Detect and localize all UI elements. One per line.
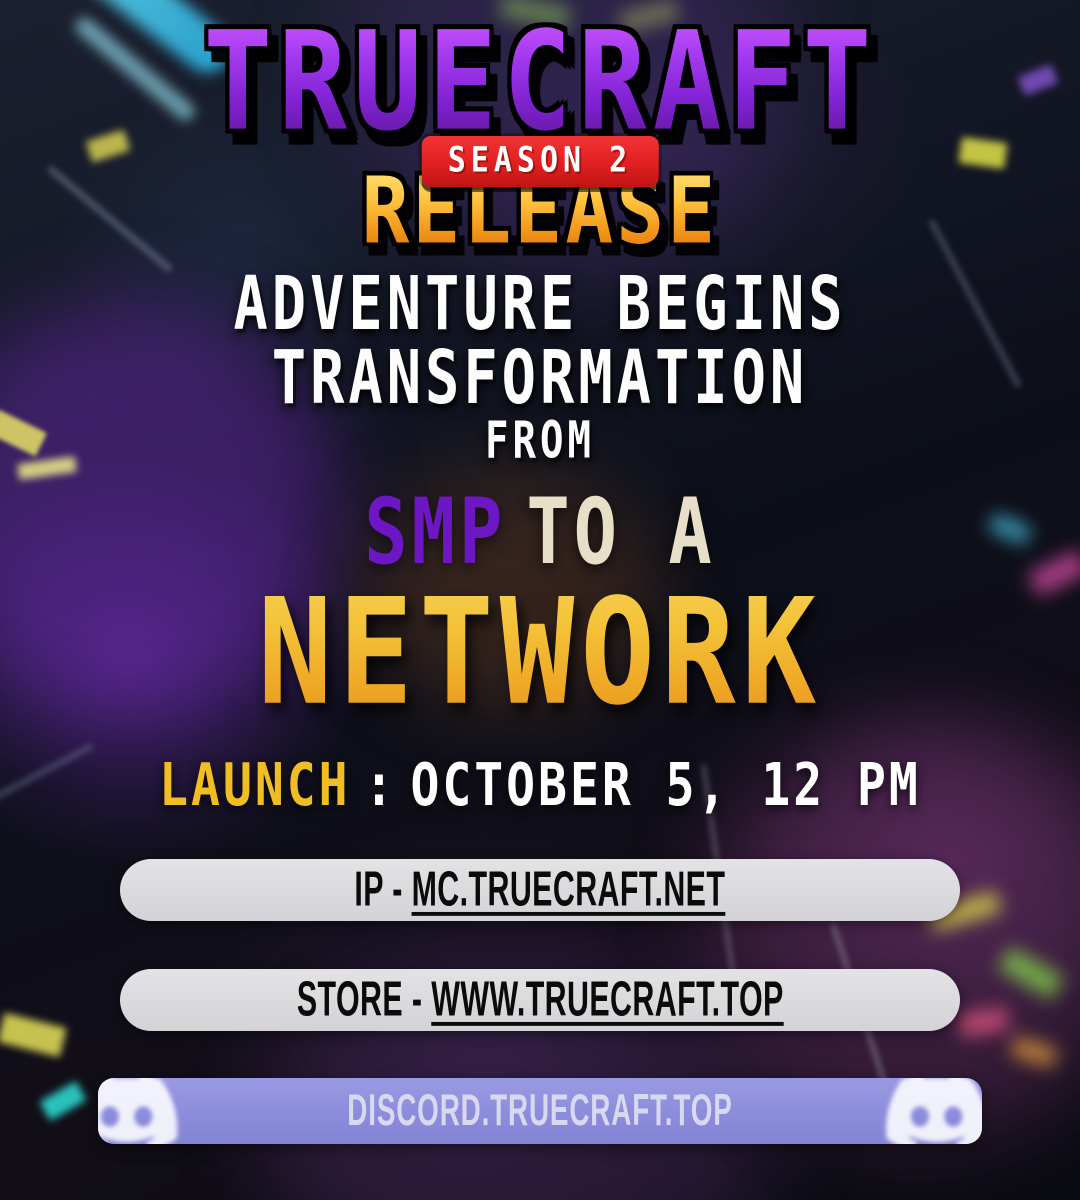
store-link-button[interactable]: STORE - WWW.TRUECRAFT.TOP <box>120 969 960 1031</box>
headline-block: ADVENTURE BEGINS TRANSFORMATION FROM <box>0 268 1080 455</box>
discord-link-bar[interactable]: DISCORD.TRUECRAFT.TOP <box>98 1078 982 1144</box>
headline-line-1: ADVENTURE BEGINS <box>0 268 1080 342</box>
promo-poster: TRUECRAFT RELEASE SEASON 2 ADVENTURE BEG… <box>0 0 1080 1200</box>
launch-date: OCTOBER 5, 12 PM <box>410 756 920 815</box>
headline-line-3: FROM <box>0 416 1080 467</box>
network-wordmark-text: NETWORK <box>258 580 823 726</box>
server-ip-prefix: IP - <box>355 862 412 917</box>
discord-logo-icon <box>98 1078 212 1144</box>
server-ip-label: IP - MC.TRUECRAFT.NET <box>355 862 726 918</box>
launch-label: LAUNCH <box>159 756 350 815</box>
server-ip-value[interactable]: MC.TRUECRAFT.NET <box>412 862 726 917</box>
network-wordmark: NETWORK <box>0 580 1080 704</box>
brand-logo: TRUECRAFT <box>0 14 1080 126</box>
confetti-yellow-2 <box>958 137 1007 169</box>
season-badge: SEASON 2 <box>422 136 659 187</box>
headline-line-2: TRANSFORMATION <box>0 342 1080 416</box>
discord-logo-icon <box>872 1078 982 1144</box>
server-ip-button[interactable]: IP - MC.TRUECRAFT.NET <box>120 859 960 921</box>
store-link-value[interactable]: WWW.TRUECRAFT.TOP <box>431 972 783 1027</box>
launch-separator: : <box>365 756 397 815</box>
store-link-prefix: STORE - <box>297 972 431 1027</box>
discord-link-label: DISCORD.TRUECRAFT.TOP <box>347 1086 732 1137</box>
launch-line: LAUNCH:OCTOBER 5, 12 PM <box>0 756 1080 804</box>
to-a-word: TO A <box>526 486 715 577</box>
transition-line: SMPTO A <box>0 486 1080 558</box>
store-link-label: STORE - WWW.TRUECRAFT.TOP <box>297 972 784 1028</box>
confetti-teal <box>39 1081 86 1121</box>
confetti-yellow-5 <box>0 1013 67 1058</box>
season-badge-label: SEASON 2 <box>448 140 633 180</box>
confetti-yellow <box>86 129 131 162</box>
smp-word: SMP <box>364 486 506 577</box>
brand-logo-text: TRUECRAFT <box>203 14 877 151</box>
